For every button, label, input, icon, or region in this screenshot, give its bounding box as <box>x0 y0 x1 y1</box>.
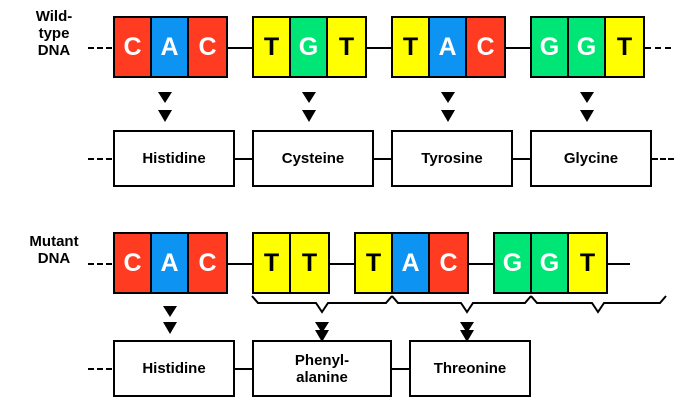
mutant-base-3-1: T <box>356 234 393 292</box>
wildtype-base-1-1: C <box>115 18 152 76</box>
wildtype-base-4-2: G <box>569 18 606 76</box>
mutant-aa-connector-1-2 <box>235 368 252 370</box>
wildtype-base-3-2: A <box>430 18 467 76</box>
mutant-right-connector <box>608 263 630 265</box>
mutant-amino-acid-3: Threonine <box>409 340 531 397</box>
mutant-arrow-1 <box>163 296 177 334</box>
mutant-reading-frame-brace-1 <box>252 296 392 312</box>
mutant-base-1-3: C <box>189 234 226 292</box>
wildtype-amino-acid-4: Glycine <box>530 130 652 187</box>
mutant-base-3-3: C <box>430 234 467 292</box>
mutant-aa-left-dashed-connector <box>88 368 112 370</box>
wildtype-right-dashed-connector <box>645 47 671 49</box>
wildtype-base-1-2: A <box>152 18 189 76</box>
mutant-arrow-2 <box>315 318 329 342</box>
wildtype-connector-2-3 <box>367 47 391 49</box>
mutant-base-1-1: C <box>115 234 152 292</box>
wildtype-amino-acid-2: Cysteine <box>252 130 374 187</box>
wildtype-codon-3: T A C <box>391 16 506 78</box>
mutant-base-2-2: T <box>291 234 328 292</box>
mutant-reading-frame-brace-3 <box>531 296 666 312</box>
mutant-connector-2-3 <box>330 263 354 265</box>
mutant-base-4-1: G <box>495 234 532 292</box>
mutant-base-3-2: A <box>393 234 430 292</box>
wildtype-base-2-3: T <box>328 18 365 76</box>
wildtype-arrow-3 <box>441 80 455 122</box>
wildtype-base-2-1: T <box>254 18 291 76</box>
mutant-codon-1: C A C <box>113 232 228 294</box>
wildtype-base-3-1: T <box>393 18 430 76</box>
wildtype-base-4-1: G <box>532 18 569 76</box>
wildtype-codon-4: G G T <box>530 16 645 78</box>
wildtype-aa-connector-1-2 <box>235 158 252 160</box>
wildtype-base-4-3: T <box>606 18 643 76</box>
wildtype-arrow-2 <box>302 80 316 122</box>
mutant-left-dashed-connector <box>88 263 112 265</box>
wildtype-aa-left-dashed-connector <box>88 158 112 160</box>
mutant-codon-4: G G T <box>493 232 608 294</box>
wildtype-aa-connector-2-3 <box>374 158 391 160</box>
wildtype-base-1-3: C <box>189 18 226 76</box>
mutant-base-4-3: T <box>569 234 606 292</box>
mutant-arrow-3 <box>460 318 474 342</box>
wildtype-arrow-1 <box>158 80 172 122</box>
mutant-base-2-1: T <box>254 234 291 292</box>
wildtype-base-3-3: C <box>467 18 504 76</box>
wildtype-connector-3-4 <box>506 47 530 49</box>
wildtype-connector-1-2 <box>228 47 252 49</box>
mutant-amino-acid-2: Phenyl- alanine <box>252 340 392 397</box>
wildtype-arrow-4 <box>580 80 594 122</box>
frameshift-mutation-diagram: Wild- type DNA C A C T G T T A C G G T H… <box>0 0 683 413</box>
mutant-row-label: Mutant DNA <box>6 233 102 267</box>
wildtype-left-dashed-connector <box>88 47 112 49</box>
wildtype-base-2-2: G <box>291 18 328 76</box>
mutant-base-4-2: G <box>532 234 569 292</box>
wildtype-codon-2: T G T <box>252 16 367 78</box>
wildtype-amino-acid-1: Histidine <box>113 130 235 187</box>
wildtype-amino-acid-3: Tyrosine <box>391 130 513 187</box>
mutant-connector-1-2 <box>228 263 252 265</box>
mutant-amino-acid-1: Histidine <box>113 340 235 397</box>
wildtype-codon-1: C A C <box>113 16 228 78</box>
wildtype-aa-connector-3-4 <box>513 158 530 160</box>
mutant-connector-3-4 <box>469 263 493 265</box>
mutant-base-1-2: A <box>152 234 189 292</box>
wildtype-aa-right-dashed-connector <box>652 158 674 160</box>
mutant-reading-frame-brace-2 <box>392 296 531 312</box>
mutant-codon-3: T A C <box>354 232 469 294</box>
mutant-codon-2: T T <box>252 232 330 294</box>
wildtype-row-label: Wild- type DNA <box>6 8 102 59</box>
mutant-aa-connector-2-3 <box>392 368 409 370</box>
